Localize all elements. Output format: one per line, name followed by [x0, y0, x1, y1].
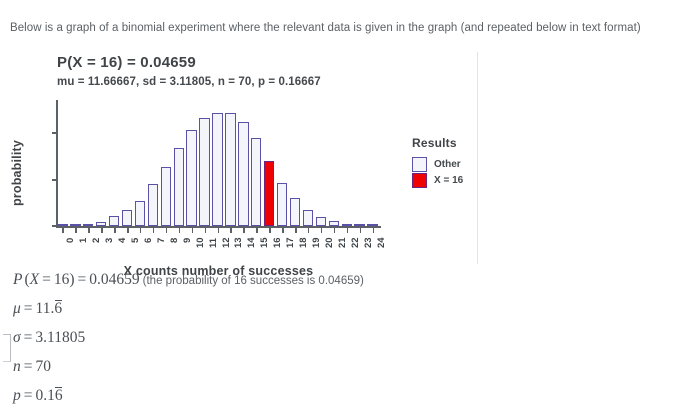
- chart-subtitle: mu = 11.66667, sd = 3.11805, n = 70, p =…: [57, 76, 321, 88]
- x-tick-mark: [140, 228, 142, 233]
- x-tick-mark: [101, 228, 103, 233]
- probability-open-paren: (: [22, 271, 29, 288]
- legend-label-highlight: X = 16: [434, 175, 463, 186]
- bar: [225, 113, 235, 226]
- probability-close-paren: ): [69, 271, 74, 288]
- result-mu: μ=11.6: [13, 301, 613, 330]
- x-tick-mark: [282, 228, 284, 233]
- bar: [329, 221, 339, 226]
- x-tick-label: 7: [157, 238, 166, 243]
- x-tick-mark: [75, 228, 77, 233]
- bar: [199, 118, 209, 226]
- probability-inner-equals: =: [39, 271, 54, 288]
- results-text-block: P(X=16)=0.04659(the probability of 16 su…: [13, 272, 613, 417]
- probability-note: (the probability of 16 successes is 0.04…: [140, 275, 364, 287]
- x-tick-label: 16: [273, 237, 282, 248]
- x-tick-label: 23: [364, 237, 373, 248]
- x-tick-label: 4: [118, 238, 127, 243]
- x-tick-mark: [192, 228, 194, 233]
- sigma-symbol: σ: [13, 329, 21, 346]
- x-tick-label: 11: [209, 238, 218, 248]
- x-tick-mark: [114, 228, 116, 233]
- x-tick-mark: [166, 228, 168, 233]
- bar: [251, 138, 261, 226]
- plot-area: [56, 104, 379, 226]
- mu-repeating-digit: 6: [54, 301, 62, 316]
- x-tick-mark: [256, 228, 258, 233]
- x-tick-mark: [243, 228, 245, 233]
- bar: [83, 224, 93, 226]
- x-tick-mark: [218, 228, 220, 233]
- bar: [367, 224, 377, 226]
- binomial-chart-figure: P(X = 16) = 0.04659 mu = 11.66667, sd = …: [0, 48, 478, 266]
- x-tick-label: 12: [222, 237, 231, 248]
- bar: [316, 217, 326, 226]
- y-axis-label: probability: [10, 128, 24, 218]
- bar: [174, 148, 184, 226]
- n-value: 70: [36, 358, 52, 375]
- x-tick-mark: [269, 228, 271, 233]
- bar: [96, 222, 106, 226]
- n-equals: =: [21, 358, 36, 375]
- x-tick-label: 14: [247, 237, 256, 248]
- legend-label-other: Other: [434, 159, 461, 170]
- sigma-value: 3.11805: [35, 329, 85, 346]
- legend-title: Results: [412, 136, 522, 150]
- x-tick-mark: [127, 228, 129, 233]
- p-integer-part: 0.1: [36, 387, 55, 404]
- x-tick-label: 24: [377, 237, 386, 248]
- bar: [70, 224, 80, 226]
- x-tick-mark: [88, 228, 90, 233]
- probability-equals: =: [75, 271, 90, 288]
- result-sigma: σ=3.11805: [13, 330, 613, 359]
- p-repeating-digit: 6: [55, 388, 63, 403]
- x-tick-label: 6: [144, 238, 153, 243]
- x-tick-mark: [62, 228, 64, 233]
- x-tick-mark: [179, 228, 181, 233]
- x-tick-mark: [230, 228, 232, 233]
- bar: [122, 210, 132, 226]
- panel-divider: [477, 52, 478, 264]
- legend-item-highlight: X = 16: [412, 172, 522, 188]
- x-tick-label: 0: [66, 238, 75, 243]
- result-p: p=0.16: [13, 388, 613, 417]
- sigma-equals: =: [21, 329, 36, 346]
- bar: [135, 201, 145, 226]
- legend-swatch-other-icon: [412, 157, 427, 172]
- x-tick-mark: [334, 228, 336, 233]
- x-tick-mark: [295, 228, 297, 233]
- result-probability: P(X=16)=0.04659(the probability of 16 su…: [13, 272, 613, 301]
- bar-highlight: [264, 161, 274, 226]
- x-tick-label: 21: [338, 237, 347, 248]
- bar: [303, 210, 313, 226]
- x-tick-label: 9: [183, 238, 192, 243]
- x-tick-mark: [360, 228, 362, 233]
- x-tick-label: 2: [92, 238, 101, 243]
- p-symbol: p: [13, 387, 21, 404]
- bar: [57, 224, 67, 226]
- bar: [109, 216, 119, 226]
- x-tick-mark: [153, 228, 155, 233]
- bar: [354, 224, 364, 226]
- x-tick-label: 10: [196, 237, 205, 248]
- x-tick-label: 19: [312, 237, 321, 248]
- x-tick-label: 13: [234, 237, 243, 248]
- probability-variable: X: [30, 271, 39, 288]
- x-tick-mark: [347, 228, 349, 233]
- probability-value: 0.04659: [89, 271, 139, 288]
- x-tick-label: 17: [286, 237, 295, 248]
- n-symbol: n: [13, 358, 21, 375]
- x-tick-label: 20: [325, 237, 334, 248]
- bar: [161, 167, 171, 226]
- x-tick-mark: [373, 228, 375, 233]
- x-tick-label: 8: [170, 238, 179, 243]
- p-equals: =: [21, 387, 36, 404]
- bar: [277, 183, 287, 226]
- mu-integer-part: 11.: [36, 300, 55, 317]
- chart-legend: Results Other X = 16: [412, 136, 522, 188]
- x-tick-label: 15: [260, 237, 269, 248]
- x-tick-label: 22: [351, 237, 360, 248]
- probability-k-value: 16: [54, 271, 70, 288]
- bar: [342, 224, 352, 226]
- intro-text: Below is a graph of a binomial experimen…: [10, 21, 641, 36]
- x-tick-mark: [321, 228, 323, 233]
- x-tick-label: 1: [79, 238, 88, 243]
- bar: [148, 184, 158, 226]
- bar: [186, 130, 196, 226]
- bar: [238, 122, 248, 226]
- bar: [290, 198, 300, 226]
- page-edge-artifact: [3, 334, 11, 362]
- x-tick-label: 5: [131, 238, 140, 243]
- legend-swatch-highlight-icon: [412, 173, 427, 188]
- mu-symbol: μ: [13, 300, 21, 317]
- chart-title: P(X = 16) = 0.04659: [57, 54, 196, 71]
- result-n: n=70: [13, 359, 613, 388]
- x-tick-label: 18: [299, 237, 308, 248]
- mu-equals: =: [21, 300, 36, 317]
- legend-item-other: Other: [412, 156, 522, 172]
- x-tick-mark: [308, 228, 310, 233]
- bar: [212, 113, 222, 226]
- x-tick-label: 3: [105, 238, 114, 243]
- x-tick-mark: [205, 228, 207, 233]
